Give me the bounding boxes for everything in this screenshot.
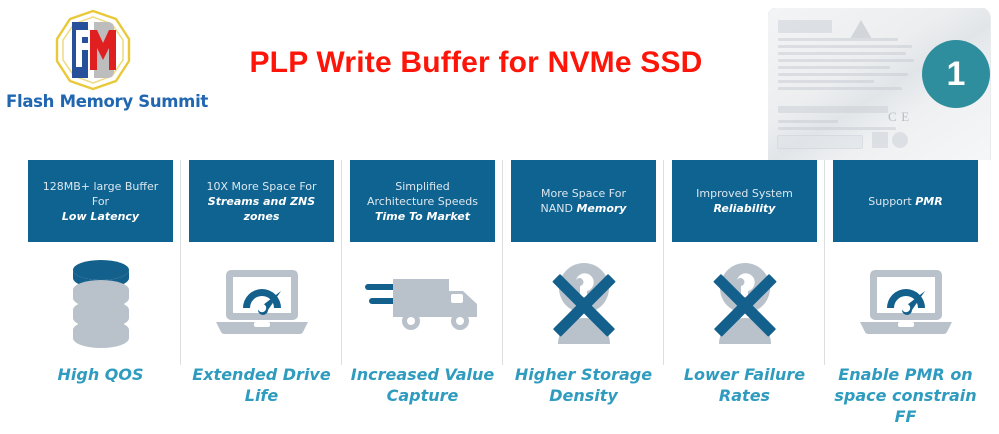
chip-3-emphasis: Time To Market: [375, 210, 470, 223]
chip-1-line-1: 128MB+ large Buffer: [43, 180, 159, 193]
chip-4-prefix: NAND: [541, 202, 577, 215]
feature-chip-5-text: Improved System Reliability: [696, 186, 793, 216]
database-stack-icon: [28, 250, 173, 358]
chip-6-line-1: Support: [868, 195, 915, 208]
feature-chip-3-text: Simplified Architecture Speeds Time To M…: [367, 179, 478, 224]
feature-chip-3[interactable]: Simplified Architecture Speeds Time To M…: [350, 160, 495, 242]
fms-shield-logo-icon: [50, 8, 136, 92]
feature-caption-4: Higher Storage Density: [508, 364, 660, 406]
feature-caption-5: Lower Failure Rates: [669, 364, 821, 406]
ssd-drive-label: [776, 20, 928, 155]
laptop-speedometer-icon: [833, 250, 978, 358]
unknown-user-crossed-out-icon: [672, 250, 817, 358]
feature-chip-2[interactable]: 10X More Space For Streams and ZNS zones: [189, 160, 334, 242]
chip-4-emphasis: Memory: [576, 202, 626, 215]
feature-chip-6[interactable]: Support PMR: [833, 160, 978, 242]
feature-chip-6-text: Support PMR: [868, 194, 942, 209]
chip-2-line-1: 10X More Space For: [207, 180, 317, 193]
unknown-user-crossed-out-icon: [511, 250, 656, 358]
feature-column-3: Simplified Architecture Speeds Time To M…: [342, 160, 503, 434]
feature-chip-4-text: More Space For NAND Memory: [541, 186, 627, 216]
feature-chip-1[interactable]: 128MB+ large Buffer For Low Latency: [28, 160, 173, 242]
fms-logo-text: Flash Memory Summit: [6, 92, 186, 111]
feature-column-4: More Space For NAND Memory Higher Storag…: [503, 160, 664, 434]
laptop-speedometer-icon: [189, 250, 334, 358]
feature-caption-3: Increased Value Capture: [347, 364, 499, 406]
feature-columns: 128MB+ large Buffer For Low Latency High…: [20, 160, 986, 434]
chip-5-line-1: Improved System: [696, 187, 793, 200]
chip-6-emphasis: PMR: [915, 195, 942, 208]
feature-caption-6: Enable PMR on space constrain FF: [830, 364, 982, 427]
feature-caption-1: High QOS: [25, 364, 177, 385]
chip-3-line-2: Architecture Speeds: [367, 195, 478, 208]
feature-column-6: Support PMR Enable PMR on space constrai…: [825, 160, 986, 434]
ce-mark-icon: C E: [888, 109, 910, 125]
page-title: PLP Write Buffer for NVMe SSD: [196, 46, 756, 80]
feature-caption-2: Extended Drive Life: [186, 364, 338, 406]
chip-1-emphasis: Low Latency: [62, 210, 139, 223]
chip-1-line-2: For: [92, 195, 109, 208]
chip-5-emphasis: Reliability: [714, 202, 776, 215]
chip-4-line-1: More Space For: [541, 187, 626, 200]
feature-chip-4[interactable]: More Space For NAND Memory: [511, 160, 656, 242]
feature-column-5: Improved System Reliability Lower Failur…: [664, 160, 825, 434]
feature-chip-1-text: 128MB+ large Buffer For Low Latency: [43, 179, 159, 224]
feature-column-1: 128MB+ large Buffer For Low Latency High…: [20, 160, 181, 434]
feature-column-2: 10X More Space For Streams and ZNS zones…: [181, 160, 342, 434]
slide-number-badge: 1: [922, 40, 990, 108]
chip-3-line-1: Simplified: [395, 180, 450, 193]
chip-2-emphasis: Streams and ZNS zones: [208, 195, 315, 223]
feature-chip-5[interactable]: Improved System Reliability: [672, 160, 817, 242]
feature-chip-2-text: 10X More Space For Streams and ZNS zones: [195, 179, 328, 224]
fms-logo: Flash Memory Summit: [6, 6, 186, 114]
fast-delivery-truck-icon: [350, 250, 495, 358]
